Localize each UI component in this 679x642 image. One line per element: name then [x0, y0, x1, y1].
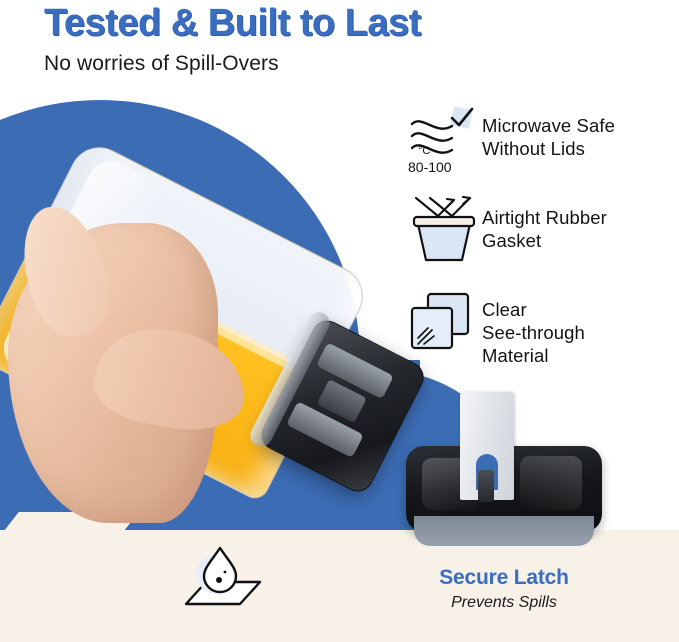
feature-label-clear-material: Clear See-through Material [482, 288, 670, 367]
feature-line-1: Microwave Safe [482, 114, 670, 137]
feature-list: °C 80-100 Microwave Safe Without Lids [408, 104, 670, 387]
feature-item-clear-material: Clear See-through Material [408, 288, 670, 367]
feature-line-2: Gasket [482, 229, 670, 252]
feature-line-2: See-through [482, 321, 670, 344]
airtight-gasket-icon [408, 196, 482, 268]
water-drop-on-surface-icon [172, 540, 268, 618]
feature-line-1: Clear [482, 298, 670, 321]
page-title: Tested & Built to Last [44, 2, 421, 45]
latch-clip-tab [478, 470, 494, 502]
microwave-waves-icon: °C 80-100 [408, 104, 482, 176]
feature-line-3: Material [482, 344, 670, 367]
product-feature-banner: Tested & Built to Last No worries of Spi… [0, 0, 679, 642]
icon-temp-unit: °C [418, 145, 430, 157]
latch-caption-title: Secure Latch [396, 566, 612, 590]
feature-item-microwave-safe: °C 80-100 Microwave Safe Without Lids [408, 104, 670, 176]
latch-caption-subtitle: Prevents Spills [396, 594, 612, 612]
latch-container-base [414, 516, 594, 546]
latch-clip [460, 392, 514, 500]
clear-panels-icon [408, 288, 482, 360]
feature-line-1: Airtight Rubber [482, 206, 670, 229]
feature-label-microwave-safe: Microwave Safe Without Lids [482, 104, 670, 160]
page-subtitle: No worries of Spill-Overs [44, 52, 279, 76]
feature-label-airtight-gasket: Airtight Rubber Gasket [482, 196, 670, 252]
feature-item-airtight-gasket: Airtight Rubber Gasket [408, 196, 670, 268]
hero-product-photo [0, 95, 400, 540]
icon-temp-range: 80-100 [408, 159, 452, 175]
container-latch-closeup [396, 388, 612, 548]
latch-highlight-right [520, 456, 582, 510]
feature-line-2: Without Lids [482, 137, 670, 160]
